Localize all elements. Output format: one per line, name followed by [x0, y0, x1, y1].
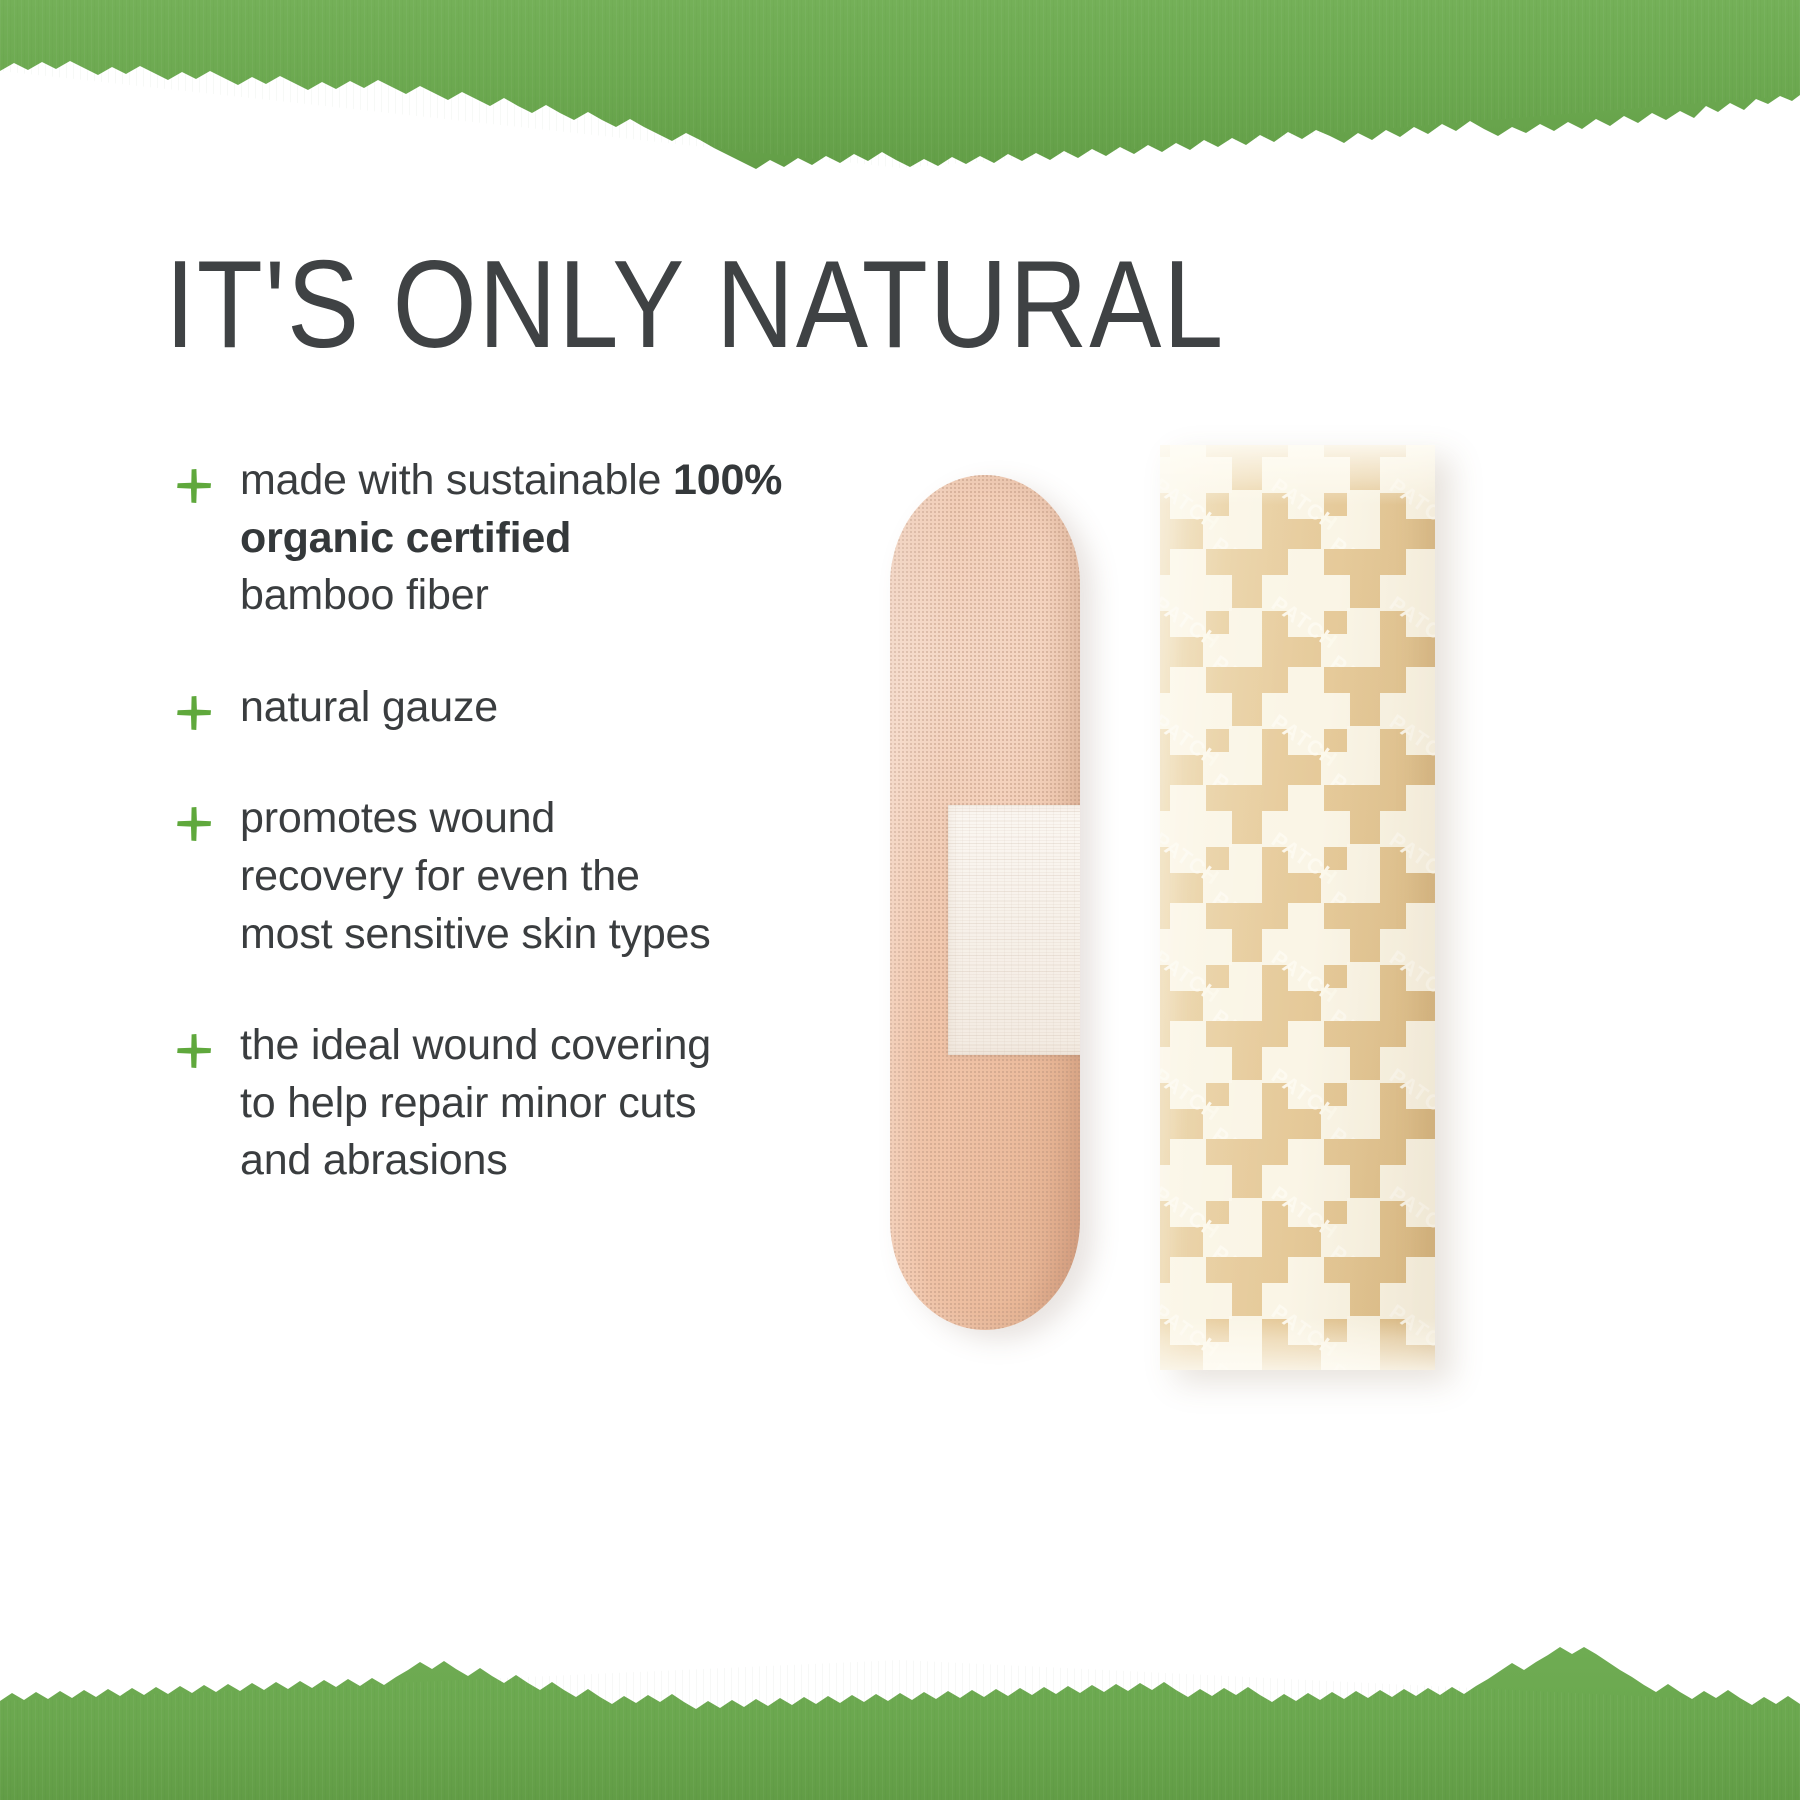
- list-item: the ideal wound covering to help repair …: [168, 1017, 868, 1190]
- plus-icon: [174, 466, 214, 506]
- wrapper-gloss: [1160, 445, 1435, 1370]
- product-feature-card: IT'S ONLY NATURAL made with sustainable …: [0, 0, 1800, 1800]
- torn-paper-edge-top: [0, 0, 1800, 180]
- list-item-lead: made with sustainable: [240, 456, 673, 504]
- list-item-lead: the ideal wound covering to help repair …: [240, 1021, 711, 1184]
- list-item-text: natural gauze: [240, 679, 868, 737]
- list-item-tail: bamboo fiber: [240, 571, 489, 619]
- plus-icon: [174, 693, 214, 733]
- list-item-text: promotes wound recovery for even the mos…: [240, 790, 868, 963]
- list-item: promotes wound recovery for even the mos…: [168, 790, 868, 963]
- gauze-pad: [948, 805, 1080, 1055]
- list-item-lead: promotes wound recovery for even the mos…: [240, 794, 711, 957]
- plus-icon: [174, 1031, 214, 1071]
- list-item: made with sustainable 100% organic certi…: [168, 452, 868, 625]
- list-item: natural gauze: [168, 679, 868, 737]
- plus-icon: [174, 804, 214, 844]
- list-item-lead: natural gauze: [240, 683, 498, 731]
- list-item-text: made with sustainable 100% organic certi…: [240, 452, 868, 625]
- list-item-text: the ideal wound covering to help repair …: [240, 1017, 868, 1190]
- gauze-fiber-cross-texture: [948, 805, 1080, 1055]
- bandage-strip: [890, 475, 1080, 1330]
- wrapper-top-seal: [1160, 445, 1435, 505]
- wrapper-sleeve: PATCH: [1160, 445, 1435, 1370]
- torn-paper-edge-bottom: [0, 1600, 1800, 1800]
- page-title: IT'S ONLY NATURAL: [165, 243, 1265, 373]
- wrapper-bottom-seal: [1160, 1318, 1435, 1370]
- feature-list: made with sustainable 100% organic certi…: [168, 452, 868, 1190]
- product-photo: PATCH: [855, 430, 1645, 1380]
- page-title-text: IT'S ONLY NATURAL: [165, 236, 1225, 374]
